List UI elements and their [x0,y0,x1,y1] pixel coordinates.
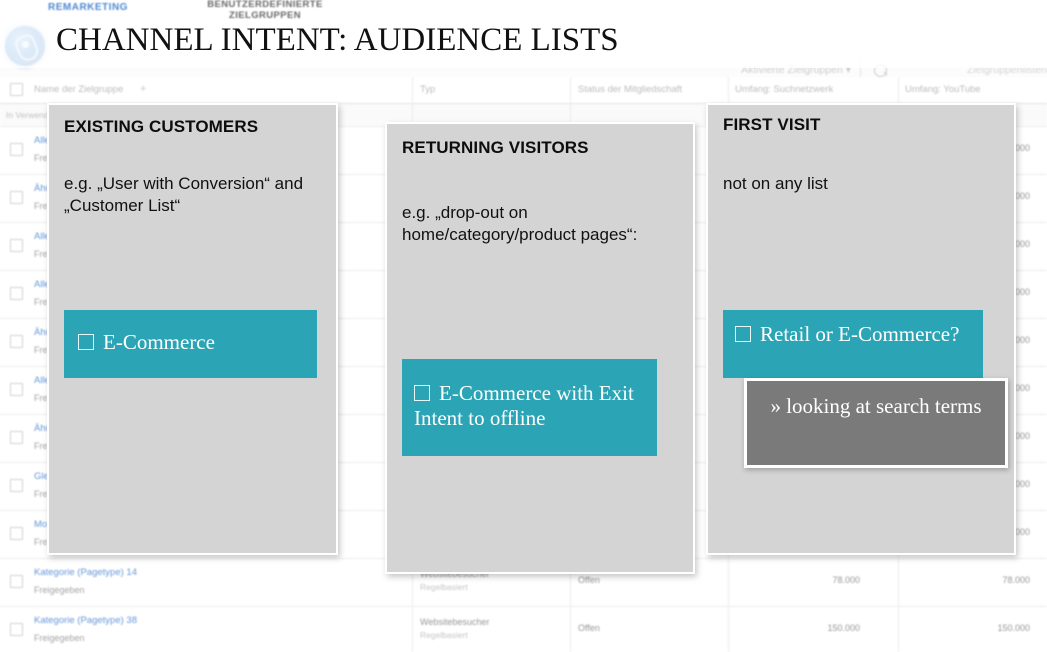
row-audience-name[interactable]: Kategorie (Pagetype) 38 [34,615,137,626]
row-type-sub: Regelbasiert [420,582,468,592]
badge-label: E-Commerce [103,330,215,354]
row-type: Websitebesucher [420,617,489,627]
column-header-type[interactable]: Typ [420,84,435,95]
row-status: Offen [578,623,600,633]
row-audience-name[interactable]: Kategorie (Pagetype) 14 [34,567,137,578]
table-header-row: Name der Zielgruppe + Typ Status der Mit… [0,77,1047,104]
card-heading: RETURNING VISITORS [402,138,589,158]
tooltip-text: » looking at search terms [770,394,981,418]
card-body-text: not on any list [723,173,998,195]
badge-retail-or-ecommerce[interactable]: Retail or E-Commerce? [723,310,983,378]
row-checkbox[interactable] [10,431,23,449]
row-audience-sub: Freigegeben [34,633,85,643]
row-checkbox[interactable] [10,623,23,641]
row-youtube-reach: 78.000 [930,575,1030,585]
row-search-reach: 150.000 [760,623,860,633]
badge-e-commerce-exit-intent[interactable]: E-Commerce with Exit Intent to offline [402,359,657,456]
breadcrumb-custom-audiences[interactable]: BENUTZERDEFINIERTE ZIELGRUPPEN [190,0,340,21]
card-heading: EXISTING CUSTOMERS [64,117,258,137]
badge-label: E-Commerce with Exit Intent to offline [414,381,634,430]
tooltip-looking-at-search-terms: » looking at search terms [744,378,1008,468]
row-search-reach: 78.000 [760,575,860,585]
card-existing-customers: EXISTING CUSTOMERS e.g. „User with Conve… [47,103,338,555]
row-checkbox[interactable] [10,143,23,161]
slide-canvas: REMARKETING BENUTZERDEFINIERTE ZIELGRUPP… [0,0,1047,652]
breadcrumb-remarketing[interactable]: REMARKETING [48,2,128,13]
add-column-icon[interactable]: + [140,83,146,95]
column-header-youtube-reach[interactable]: Umfang: YouTube [905,84,981,95]
column-header-search-reach[interactable]: Umfang: Suchnetzwerk [735,84,833,95]
table-row[interactable]: Kategorie (Pagetype) 38FreigegebenWebsit… [0,607,1047,652]
row-checkbox[interactable] [10,383,23,401]
row-checkbox[interactable] [10,479,23,497]
row-checkbox[interactable] [10,527,23,545]
badge-label: Retail or E-Commerce? [760,322,959,346]
row-audience-sub: Freigegeben [34,585,85,595]
badge-e-commerce[interactable]: E-Commerce [64,310,317,378]
checkbox-square-icon [414,385,430,401]
card-first-visit: FIRST VISIT not on any list Retail or E-… [706,103,1016,555]
column-header-status[interactable]: Status der Mitgliedschaft [578,84,682,95]
row-checkbox[interactable] [10,575,23,593]
card-body-text: e.g. „User with Conversion“ and „Custome… [64,173,314,217]
card-heading: FIRST VISIT [723,115,820,135]
row-youtube-reach: 150.000 [930,623,1030,633]
row-checkbox[interactable] [10,239,23,257]
row-checkbox[interactable] [10,335,23,353]
row-status: Offen [578,575,600,585]
row-type-sub: Regelbasiert [420,630,468,640]
checkbox-square-icon [735,326,751,342]
breadcrumb: REMARKETING BENUTZERDEFINIERTE ZIELGRUPP… [0,0,1047,22]
page-title: CHANNEL INTENT: AUDIENCE LISTS [56,22,619,59]
row-checkbox[interactable] [10,191,23,209]
select-all-checkbox[interactable] [10,83,23,101]
checkbox-square-icon [78,334,94,350]
card-body-text: e.g. „drop-out on home/category/product … [402,202,677,246]
row-checkbox[interactable] [10,287,23,305]
column-header-name[interactable]: Name der Zielgruppe [34,84,123,95]
card-returning-visitors: RETURNING VISITORS e.g. „drop-out on hom… [385,122,695,574]
